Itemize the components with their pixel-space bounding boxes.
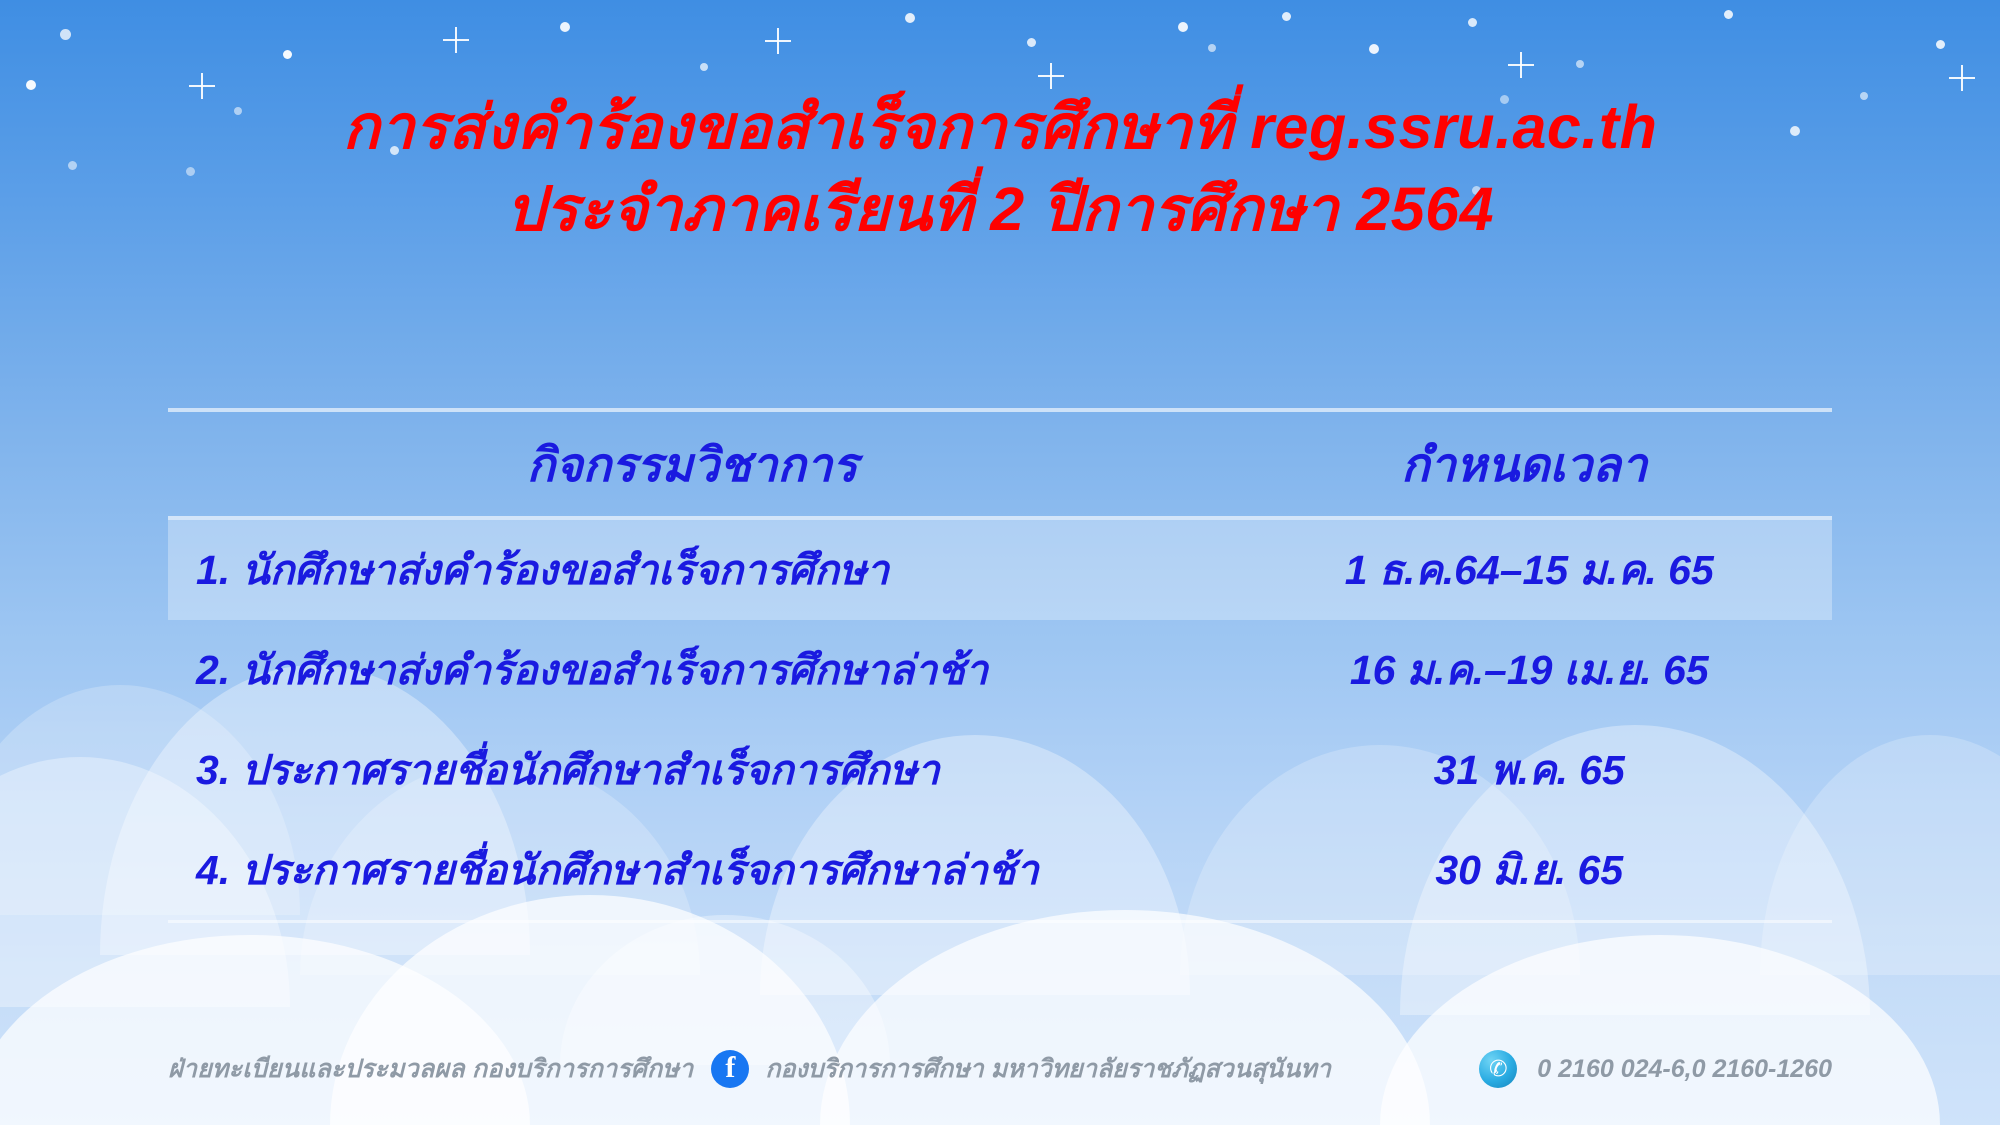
star-dot <box>560 22 570 32</box>
star-dot <box>283 50 292 59</box>
title-line-1: การส่งคำร้องขอสำเร็จการศึกษาที่ reg.ssru… <box>0 86 2000 168</box>
cell-activity: 4. ประกาศรายชื่อนักศึกษาสำเร็จการศึกษาล่… <box>168 820 1227 920</box>
cell-activity: 3. ประกาศรายชื่อนักศึกษาสำเร็จการศึกษา <box>168 720 1227 820</box>
star-dot <box>1576 60 1584 68</box>
star-dot <box>1282 12 1291 21</box>
star-dot <box>1724 10 1733 19</box>
table-body: 1. นักศึกษาส่งคำร้องขอสำเร็จการศึกษา 1 ธ… <box>168 520 1832 920</box>
phone-icon: ✆ <box>1479 1050 1517 1088</box>
table-bottom-rule <box>168 920 1832 923</box>
cloud-shape <box>0 935 530 1125</box>
sparkle-icon <box>765 28 791 54</box>
slide-footer: ฝ่ายทะเบียนและประมวลผล กองบริการการศึกษา… <box>168 1049 1832 1089</box>
star-dot <box>1369 44 1379 54</box>
sparkle-icon <box>443 27 469 53</box>
table-row: 3. ประกาศรายชื่อนักศึกษาสำเร็จการศึกษา 3… <box>168 720 1832 820</box>
cell-date: 31 พ.ค. 65 <box>1227 720 1833 820</box>
table-row: 2. นักศึกษาส่งคำร้องขอสำเร็จการศึกษาล่าช… <box>168 620 1832 720</box>
cell-activity: 2. นักศึกษาส่งคำร้องขอสำเร็จการศึกษาล่าช… <box>168 620 1227 720</box>
star-dot <box>700 63 708 71</box>
schedule-table-container: กิจกรรมวิชาการ กำหนดเวลา 1. นักศึกษาส่งค… <box>168 408 1832 923</box>
cloud-shape <box>330 895 850 1125</box>
table-header-row: กิจกรรมวิชาการ กำหนดเวลา <box>168 412 1832 516</box>
table-head: กิจกรรมวิชาการ กำหนดเวลา <box>168 412 1832 516</box>
footer-facebook-text: กองบริการการศึกษา มหาวิทยาลัยราชภัฏสวนสุ… <box>765 1049 1331 1089</box>
cloud-shape <box>560 915 890 1065</box>
star-dot <box>1468 18 1477 27</box>
title-line-2: ประจำภาคเรียนที่ 2 ปีการศึกษา 2564 <box>0 168 2000 250</box>
slide-title: การส่งคำร้องขอสำเร็จการศึกษาที่ reg.ssru… <box>0 86 2000 251</box>
footer-phone-text: 0 2160 024-6,0 2160-1260 <box>1537 1055 1832 1084</box>
schedule-table-body: 1. นักศึกษาส่งคำร้องขอสำเร็จการศึกษา 1 ธ… <box>168 520 1832 920</box>
slide-canvas: การส่งคำร้องขอสำเร็จการศึกษาที่ reg.ssru… <box>0 0 2000 1125</box>
cloud-shape <box>1380 935 1940 1125</box>
table-row: 1. นักศึกษาส่งคำร้องขอสำเร็จการศึกษา 1 ธ… <box>168 520 1832 620</box>
cell-date: 1 ธ.ค.64–15 ม.ค. 65 <box>1227 520 1833 620</box>
cloud-shape <box>820 910 1430 1125</box>
cell-date: 16 ม.ค.–19 เม.ย. 65 <box>1227 620 1833 720</box>
cell-activity: 1. นักศึกษาส่งคำร้องขอสำเร็จการศึกษา <box>168 520 1227 620</box>
column-header-activity: กิจกรรมวิชาการ <box>168 412 1216 516</box>
star-dot <box>1027 38 1036 47</box>
star-dot <box>905 13 915 23</box>
star-dot <box>1178 22 1188 32</box>
table-row: 4. ประกาศรายชื่อนักศึกษาสำเร็จการศึกษาล่… <box>168 820 1832 920</box>
star-dot <box>60 29 71 40</box>
sparkle-icon <box>1508 52 1534 78</box>
column-header-date: กำหนดเวลา <box>1216 412 1832 516</box>
facebook-icon[interactable]: f <box>711 1050 749 1088</box>
star-dot <box>1208 44 1216 52</box>
footer-department: ฝ่ายทะเบียนและประมวลผล กองบริการการศึกษา <box>168 1049 693 1089</box>
cell-date: 30 มิ.ย. 65 <box>1227 820 1833 920</box>
schedule-table: กิจกรรมวิชาการ กำหนดเวลา <box>168 412 1832 516</box>
star-dot <box>1936 40 1945 49</box>
